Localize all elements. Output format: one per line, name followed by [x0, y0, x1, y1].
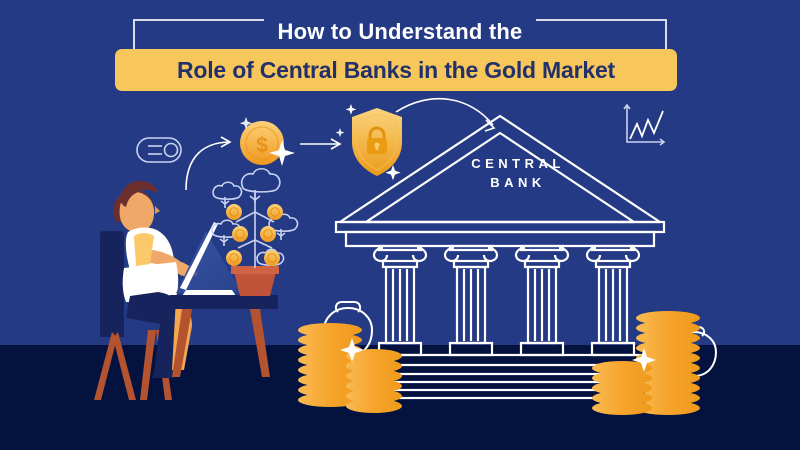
column — [374, 246, 426, 355]
arrow-coin-to-shield — [300, 139, 340, 149]
infographic-canvas: How to Understand the Role of Central Ba… — [0, 0, 800, 450]
arrow-desk-to-coin — [186, 137, 230, 190]
svg-text:$: $ — [256, 134, 268, 157]
line-chart-icon — [624, 105, 664, 145]
column — [445, 246, 497, 355]
sparkle-icon — [335, 128, 344, 137]
shield-lock-icon — [335, 104, 402, 180]
building-label: CENTRAL BANK — [418, 154, 618, 192]
building-label-line-2: BANK — [418, 173, 618, 192]
building-columns — [374, 246, 639, 355]
arrow-shield-to-bank — [396, 99, 494, 131]
illustration-layer: $ — [0, 0, 800, 450]
building-label-line-1: CENTRAL — [418, 154, 618, 173]
card-toggle-icon — [137, 138, 181, 162]
column — [516, 246, 568, 355]
column — [587, 246, 639, 355]
desk — [170, 295, 278, 377]
gold-coin-dollar-icon: $ — [240, 117, 295, 166]
coin-stack-icon — [592, 311, 700, 415]
sparkle-icon — [346, 104, 357, 115]
